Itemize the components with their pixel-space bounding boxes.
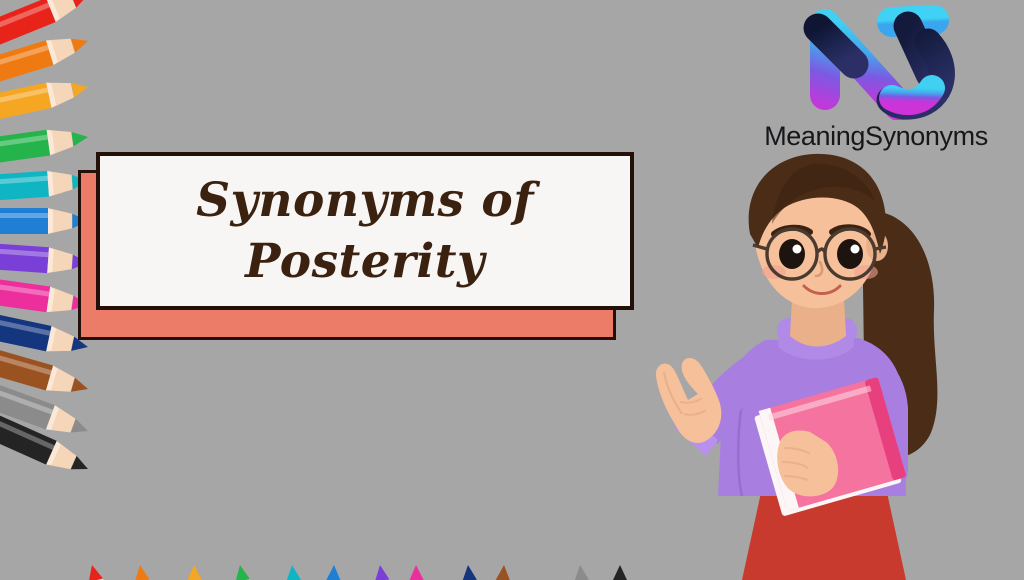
pencil-barrel bbox=[0, 305, 51, 351]
pencil-wood bbox=[46, 287, 74, 316]
pencil-tip bbox=[127, 563, 155, 580]
logo-wordmark: MeaningSynonyms bbox=[736, 121, 1016, 152]
pencil-tip bbox=[227, 563, 255, 580]
pencil bbox=[0, 124, 90, 169]
ms-monogram-icon bbox=[796, 2, 956, 120]
pencil bbox=[0, 273, 90, 318]
title-card-panel: Synonyms of Posterity bbox=[96, 152, 634, 310]
pencil-wood bbox=[47, 169, 73, 197]
title-line-1: Synonyms of bbox=[196, 173, 534, 228]
pencil bbox=[567, 564, 609, 580]
pencil-wood bbox=[46, 78, 76, 109]
female-teacher-illustration bbox=[614, 150, 1024, 580]
pencil-tip bbox=[79, 562, 108, 580]
eye-right bbox=[837, 239, 863, 269]
eye-left bbox=[779, 239, 805, 269]
pencil bbox=[0, 74, 91, 129]
pencil-barrel bbox=[0, 273, 50, 313]
pencil bbox=[0, 240, 89, 276]
pencil bbox=[481, 564, 517, 580]
pencil bbox=[227, 563, 279, 580]
pencil-wood bbox=[47, 247, 73, 275]
pencil-barrel bbox=[0, 83, 51, 129]
pencil-tip bbox=[490, 564, 517, 580]
page-title: Synonyms of Posterity bbox=[170, 170, 560, 292]
pencil-tip bbox=[320, 565, 347, 580]
pencil-wood bbox=[46, 126, 74, 155]
pencil bbox=[316, 565, 347, 580]
pencil bbox=[127, 563, 174, 580]
pointing-hand bbox=[656, 358, 721, 443]
pencil-barrel bbox=[0, 130, 50, 170]
pencil bbox=[0, 168, 89, 204]
pencil-tip bbox=[567, 564, 594, 580]
title-card: Synonyms of Posterity bbox=[78, 152, 634, 340]
pencil-tip bbox=[70, 74, 91, 103]
pencil-barrel bbox=[0, 240, 49, 273]
pencil-tip bbox=[71, 124, 90, 152]
pencil-tip bbox=[367, 563, 395, 580]
brand-logo[interactable]: MeaningSynonyms bbox=[736, 2, 1016, 152]
pencil-tip bbox=[181, 565, 208, 580]
pencil bbox=[403, 565, 434, 580]
pencil-tip bbox=[403, 565, 430, 580]
pencil bbox=[181, 565, 212, 580]
title-line-2: Posterity bbox=[245, 234, 485, 289]
pencil-tip bbox=[455, 564, 482, 580]
poster-canvas: Synonyms of Posterity bbox=[0, 0, 1024, 580]
pencil bbox=[0, 208, 88, 234]
pencil-wood bbox=[48, 208, 73, 234]
pencil-barrel bbox=[0, 171, 49, 204]
pencil-tip bbox=[279, 564, 306, 580]
pencil-barrel bbox=[0, 208, 48, 234]
pencil-wood bbox=[46, 326, 76, 357]
pencil bbox=[279, 564, 321, 580]
